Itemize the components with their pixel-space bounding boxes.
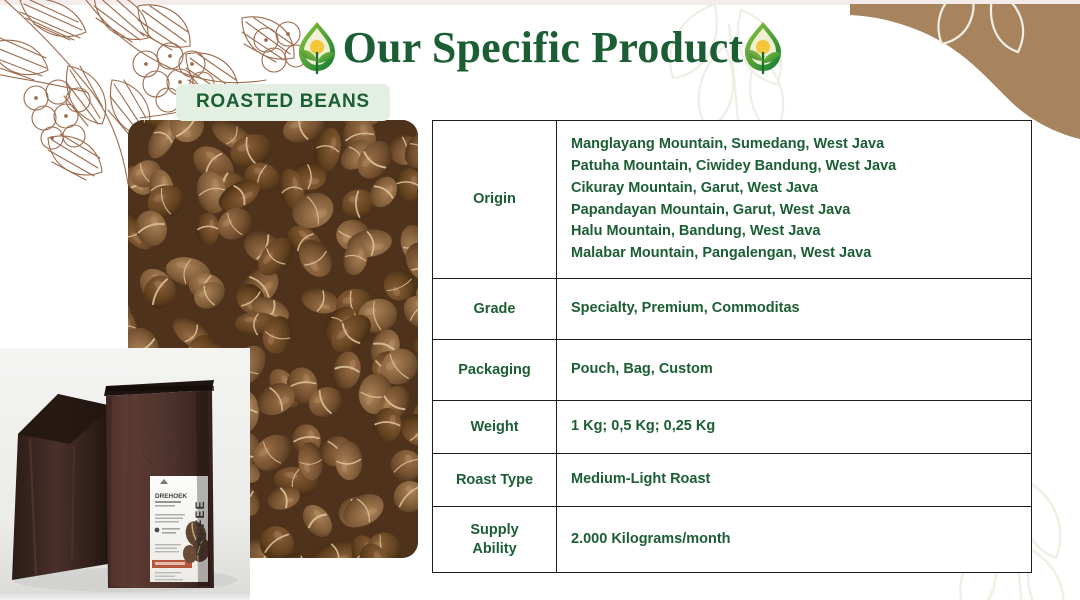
product-spec-table: Origin Manglayang Mountain, Sumedang, We…: [432, 120, 1032, 573]
table-row: Supply Ability 2.000 Kilograms/month: [433, 507, 1032, 573]
row-value-weight: 1 Kg; 0,5 Kg; 0,25 Kg: [557, 401, 1032, 454]
row-label-packaging: Packaging: [433, 340, 557, 401]
svg-text:DREHOEK: DREHOEK: [155, 493, 187, 500]
table-row: Grade Specialty, Premium, Commoditas: [433, 279, 1032, 340]
table-row: Roast Type Medium-Light Roast: [433, 454, 1032, 507]
table-row: Packaging Pouch, Bag, Custom: [433, 340, 1032, 401]
row-value-grade: Specialty, Premium, Commoditas: [557, 279, 1032, 340]
row-label-roast-type: Roast Type: [433, 454, 557, 507]
top-edge-strip: [0, 0, 1080, 5]
origin-line: Halu Mountain, Bandung, West Java: [571, 221, 1017, 243]
origin-line: Cikuray Mountain, Garut, West Java: [571, 178, 1017, 200]
row-value-roast-type: Medium-Light Roast: [557, 454, 1032, 507]
row-label-grade: Grade: [433, 279, 557, 340]
slide-canvas: Our Specific Product ROASTED BEANS: [0, 0, 1080, 600]
table-row: Origin Manglayang Mountain, Sumedang, We…: [433, 121, 1032, 279]
origin-line: Malabar Mountain, Pangalengan, West Java: [571, 243, 1017, 265]
leaf-seedling-icon-left: [295, 21, 339, 75]
leaf-seedling-icon-right: [741, 21, 785, 75]
bottom-edge-strip: [0, 592, 250, 600]
supply-label-line2: Ability: [472, 541, 516, 557]
coffee-bag-photo: DREHOEK: [0, 348, 250, 592]
page-title: Our Specific Product: [343, 26, 744, 70]
origin-line: Patuha Mountain, Ciwidey Bandung, West J…: [571, 156, 1017, 178]
supply-label-line1: Supply: [470, 522, 518, 538]
row-label-origin: Origin: [433, 121, 557, 279]
row-label-weight: Weight: [433, 401, 557, 454]
row-label-supply-ability: Supply Ability: [433, 507, 557, 573]
row-value-supply-ability: 2.000 Kilograms/month: [557, 507, 1032, 573]
origin-line: Papandayan Mountain, Garut, West Java: [571, 200, 1017, 222]
row-value-origin: Manglayang Mountain, Sumedang, West Java…: [557, 121, 1032, 279]
origin-line: Manglayang Mountain, Sumedang, West Java: [571, 134, 1017, 156]
page-header: Our Specific Product: [0, 16, 1080, 80]
row-value-packaging: Pouch, Bag, Custom: [557, 340, 1032, 401]
table-row: Weight 1 Kg; 0,5 Kg; 0,25 Kg: [433, 401, 1032, 454]
status-badge-roasted-beans: ROASTED BEANS: [176, 84, 390, 121]
